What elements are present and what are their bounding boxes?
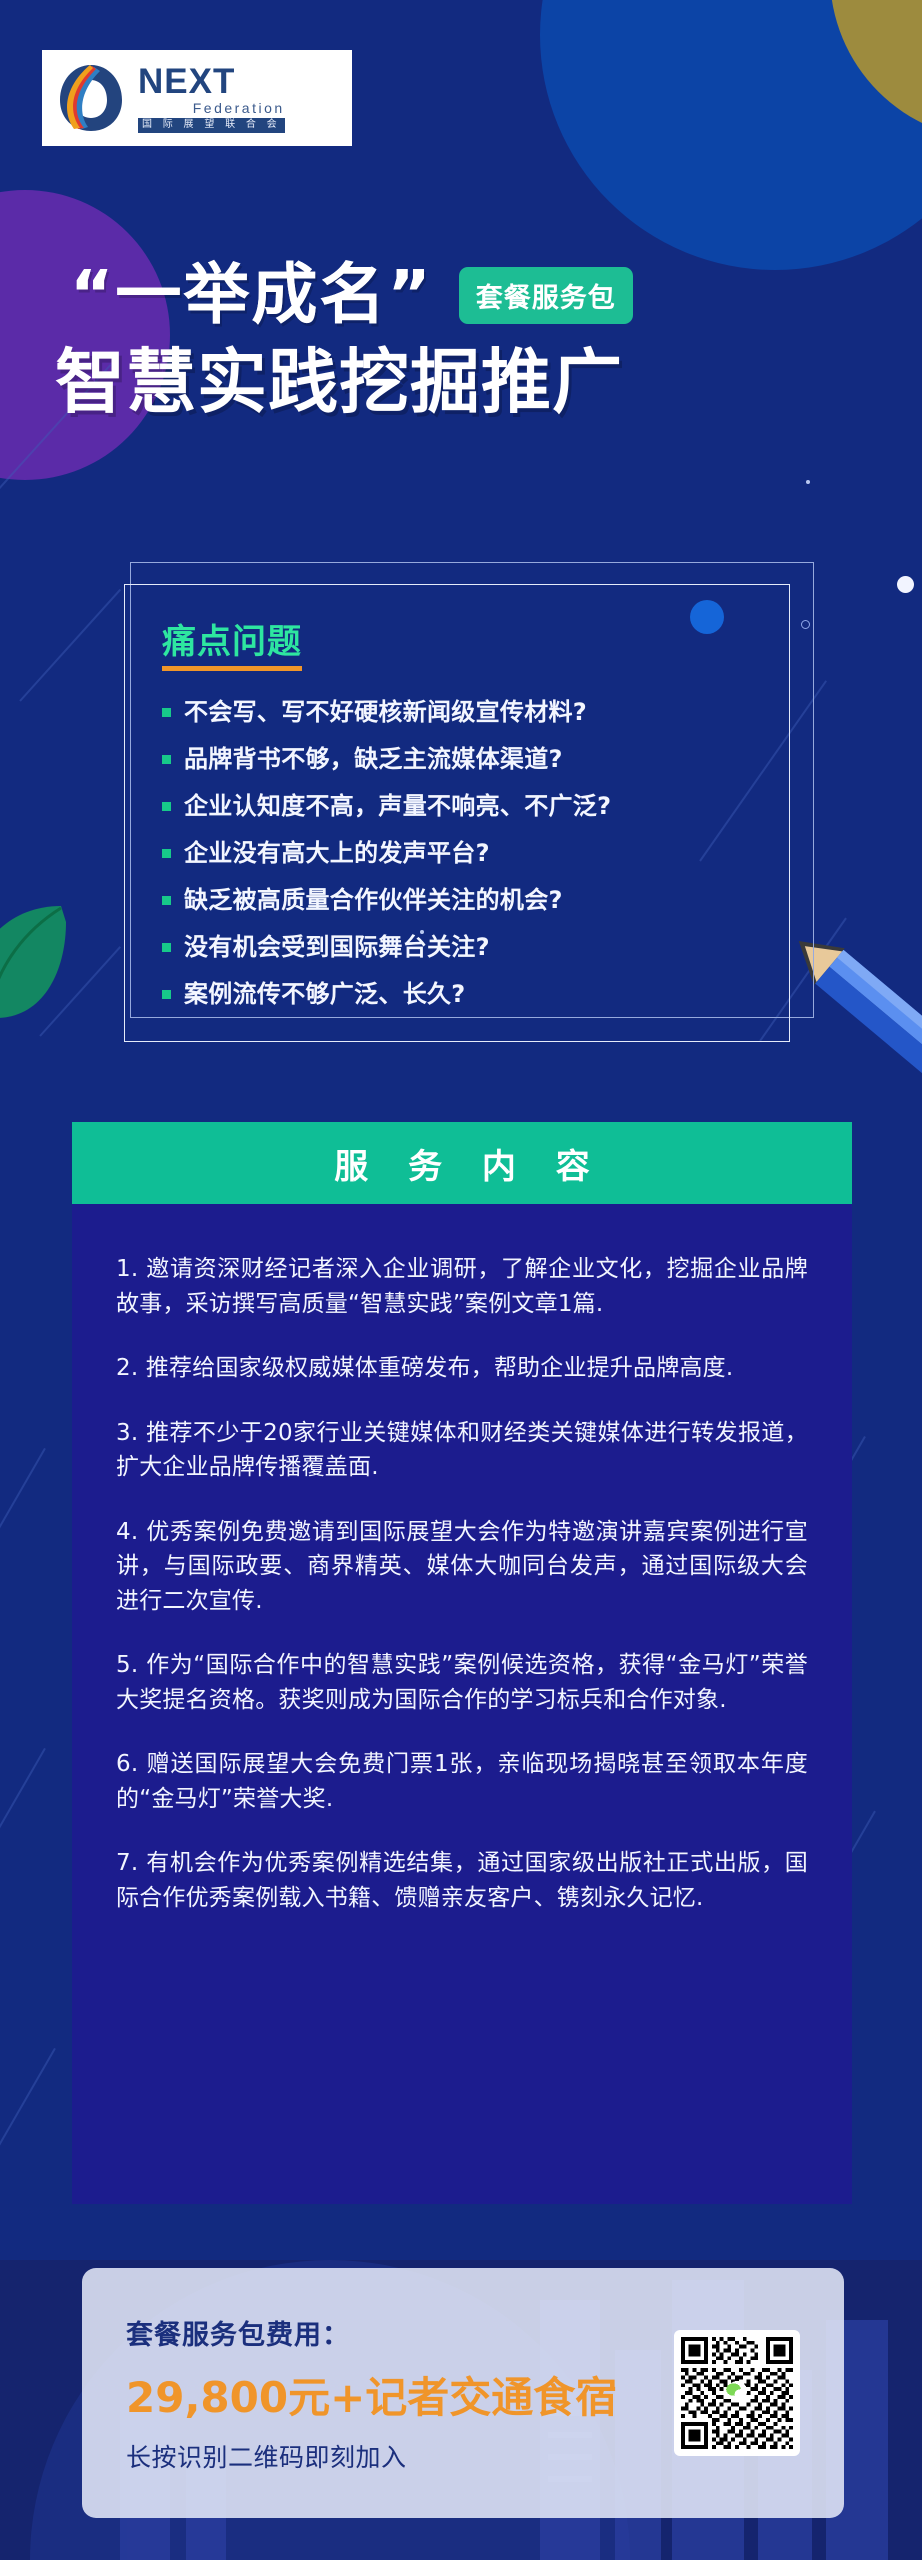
bullet-square-icon <box>162 943 171 952</box>
pain-point-item: 案例流传不够广泛、长久? <box>162 979 774 1009</box>
bullet-square-icon <box>162 896 171 905</box>
price-card: 套餐服务包费用： 29,800元+记者交通食宿 长按识别二维码即刻加入 <box>82 2268 844 2518</box>
logo-next-text: NEXT <box>138 64 285 99</box>
headline-title-line1: “一举成名” <box>70 262 433 328</box>
pain-point-text: 没有机会受到国际舞台关注? <box>184 932 490 962</box>
brand-logo: NEXT Federation 国 际 展 望 联 合 会 <box>42 50 352 146</box>
service-item: 3. 推荐不少于20家行业关键媒体和财经类关键媒体进行转发报道，扩大企业品牌传播… <box>116 1416 808 1485</box>
pain-point-text: 缺乏被高质量合作伙伴关注的机会? <box>184 885 563 915</box>
pain-points-list: 不会写、写不好硬核新闻级宣传材料?品牌背书不够，缺乏主流媒体渠道?企业认知度不高… <box>162 697 774 1009</box>
service-item: 7. 有机会作为优秀案例精选结集，通过国家级出版社正式出版，国际合作优秀案例载入… <box>116 1846 808 1915</box>
bullet-square-icon <box>162 708 171 717</box>
wechat-qr-code[interactable] <box>674 2330 800 2456</box>
decorative-line <box>0 1448 46 1562</box>
pain-point-text: 企业认知度不高，声量不响亮、不广泛? <box>184 791 611 821</box>
pain-point-text: 品牌背书不够，缺乏主流媒体渠道? <box>184 744 563 774</box>
decorative-dot <box>806 480 810 484</box>
service-item: 4. 优秀案例免费邀请到国际展望大会作为特邀演讲嘉宾案例进行宣讲，与国际政要、商… <box>116 1515 808 1619</box>
decorative-line <box>19 589 121 702</box>
decorative-line <box>0 2048 56 2162</box>
service-item: 6. 赠送国际展望大会免费门票1张，亲临现场揭晓甚至领取本年度的“金马灯”荣誉大… <box>116 1747 808 1816</box>
headline-title-line2: 智慧实践挖掘推广 <box>0 346 922 420</box>
logo-federation-text: Federation <box>138 101 285 115</box>
pain-points-title: 痛点问题 <box>162 614 302 671</box>
service-content-panel: 1. 邀请资深财经记者深入企业调研，了解企业文化，挖掘企业品牌故事，采访撰写高质… <box>72 1204 852 2204</box>
price-value: 29,800元+记者交通食宿 <box>126 2364 674 2425</box>
leaf-icon <box>0 900 74 1020</box>
pain-point-item: 品牌背书不够，缺乏主流媒体渠道? <box>162 744 774 774</box>
service-item: 2. 推荐给国家级权威媒体重磅发布，帮助企业提升品牌高度. <box>116 1351 808 1386</box>
service-section-header: 服 务 内 容 <box>72 1122 852 1204</box>
pain-point-item: 企业认知度不高，声量不响亮、不广泛? <box>162 791 774 821</box>
logo-chinese-text: 国 际 展 望 联 合 会 <box>138 118 285 133</box>
cta-text: 长按识别二维码即刻加入 <box>126 2438 674 2474</box>
pain-point-text: 不会写、写不好硬核新闻级宣传材料? <box>184 697 587 727</box>
pain-point-item: 没有机会受到国际舞台关注? <box>162 932 774 962</box>
bullet-square-icon <box>162 755 171 764</box>
decorative-line <box>0 1748 46 1862</box>
headline-block: “一举成名” 套餐服务包 智慧实践挖掘推广 <box>0 262 922 420</box>
fee-label: 套餐服务包费用： <box>126 2313 674 2352</box>
package-badge: 套餐服务包 <box>459 267 633 324</box>
bullet-square-icon <box>162 802 171 811</box>
bullet-square-icon <box>162 849 171 858</box>
next-federation-logo-icon <box>52 59 130 137</box>
pain-point-item: 企业没有高大上的发声平台? <box>162 838 774 868</box>
pain-point-text: 企业没有高大上的发声平台? <box>184 838 490 868</box>
pain-point-item: 不会写、写不好硬核新闻级宣传材料? <box>162 697 774 727</box>
pain-points-section: 痛点问题 不会写、写不好硬核新闻级宣传材料?品牌背书不够，缺乏主流媒体渠道?企业… <box>124 562 814 1042</box>
decorative-dot-white <box>897 576 914 593</box>
service-section-title: 服 务 内 容 <box>320 1139 604 1188</box>
service-item: 1. 邀请资深财经记者深入企业调研，了解企业文化，挖掘企业品牌故事，采访撰写高质… <box>116 1252 808 1321</box>
bullet-square-icon <box>162 990 171 999</box>
pain-point-item: 缺乏被高质量合作伙伴关注的机会? <box>162 885 774 915</box>
service-item: 5. 作为“国际合作中的智慧实践”案例候选资格，获得“金马灯”荣誉大奖提名资格。… <box>116 1648 808 1717</box>
pain-point-text: 案例流传不够广泛、长久? <box>184 979 466 1009</box>
